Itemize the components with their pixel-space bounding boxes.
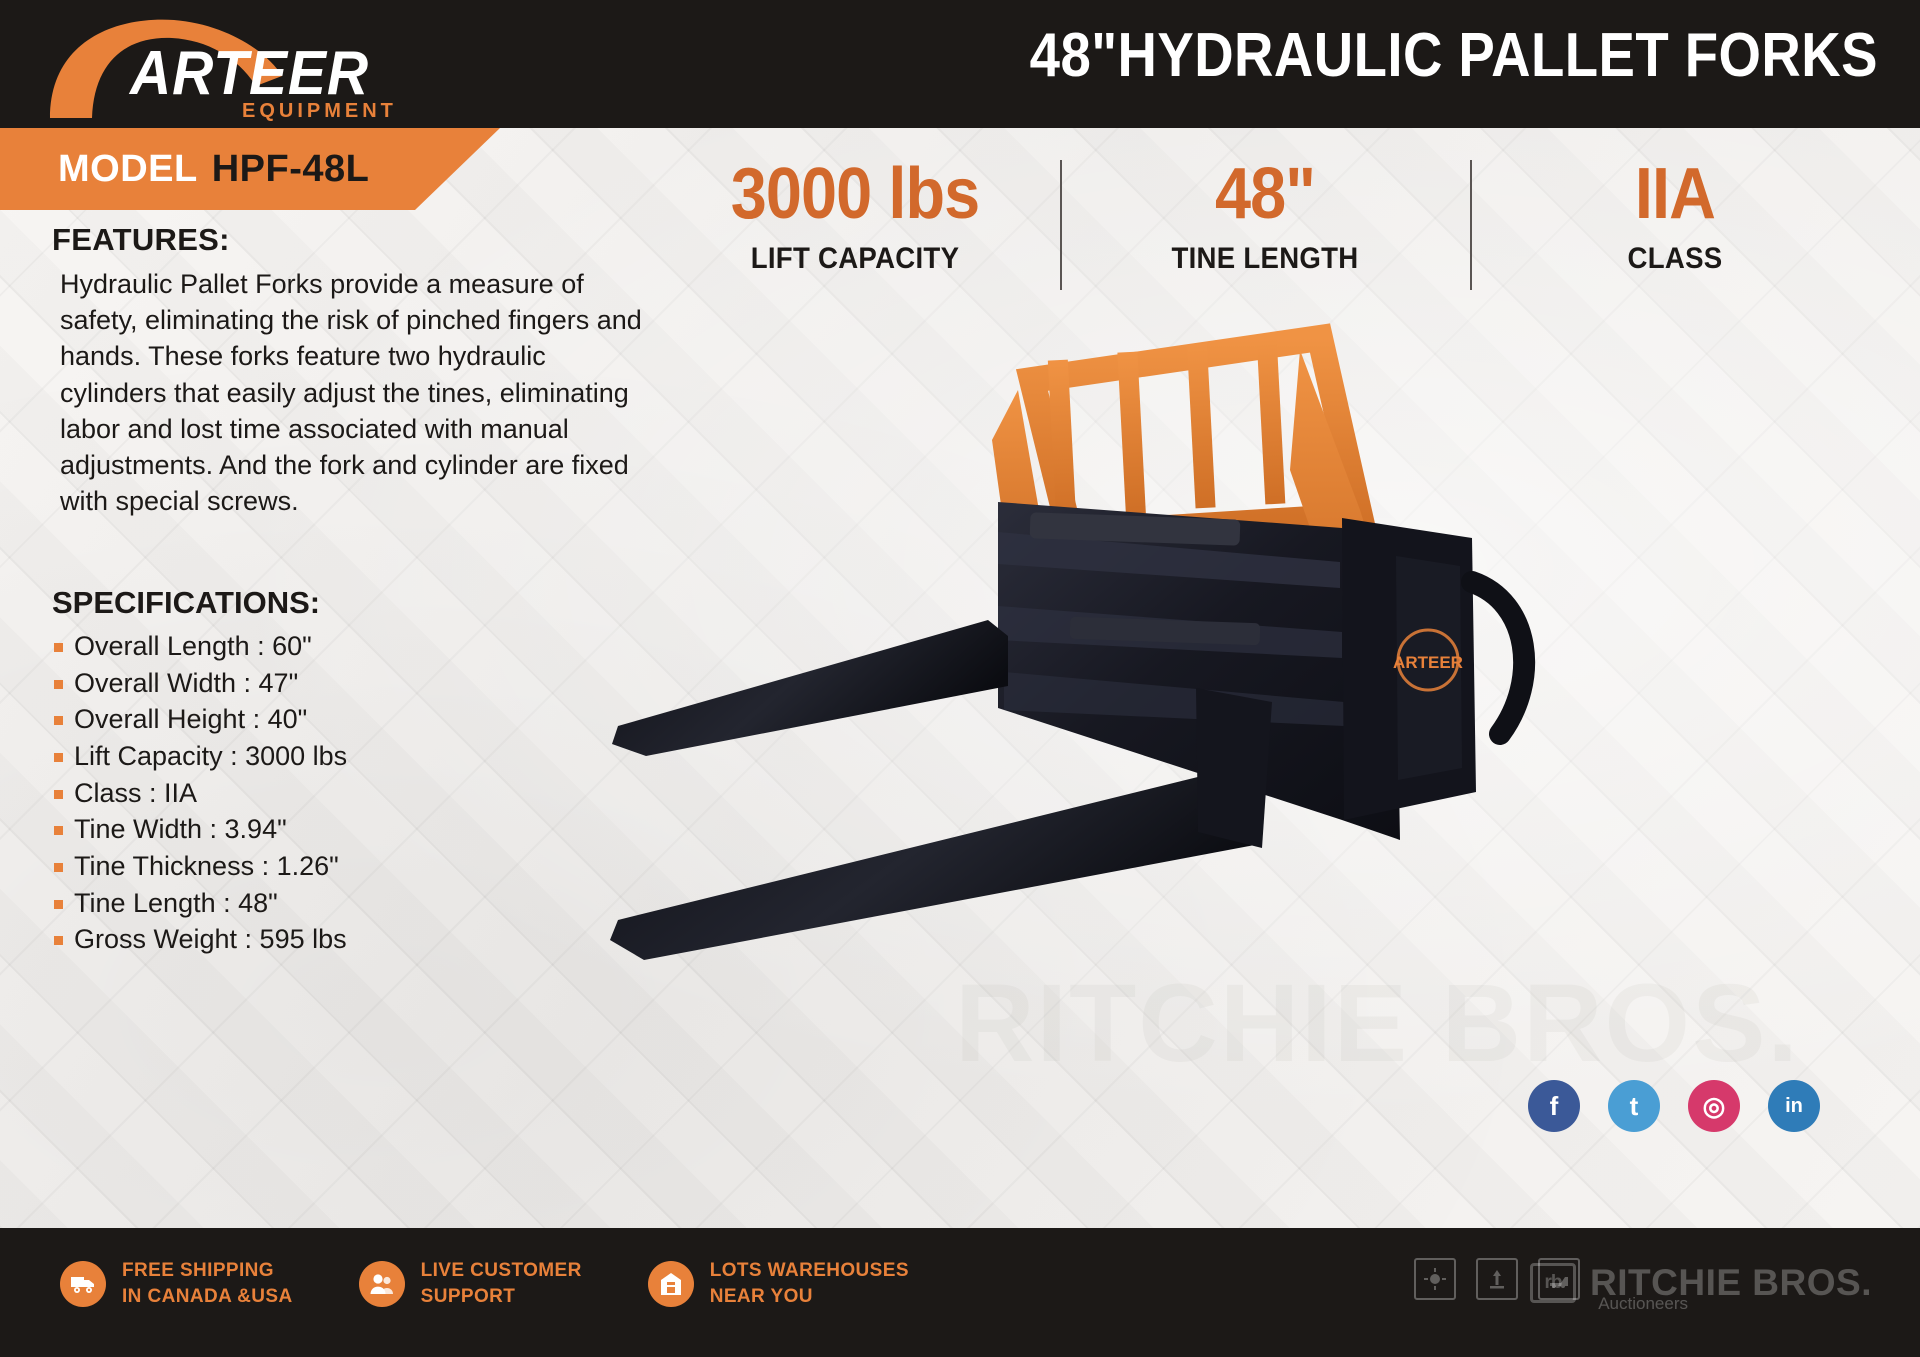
specifications-list: Overall Length : 60" Overall Width : 47"… xyxy=(52,629,662,958)
warehouse-icon xyxy=(648,1261,694,1307)
page-header: ARTEER EQUIPMENT 48"HYDRAULIC PALLET FOR… xyxy=(0,0,1920,128)
model-label: MODEL xyxy=(58,148,198,191)
spec-item: Gross Weight : 595 lbs xyxy=(52,922,662,958)
stat-label: CLASS xyxy=(1486,242,1863,276)
people-icon xyxy=(359,1261,405,1307)
stat-value: 48" xyxy=(1081,158,1450,230)
brand-logo: ARTEER EQUIPMENT xyxy=(42,8,372,120)
social-links[interactable]: f t ◎ in xyxy=(1528,1080,1820,1132)
spec-item: Overall Length : 60" xyxy=(52,629,662,665)
footer-item-line1: LIVE CUSTOMER xyxy=(421,1258,582,1284)
footer-item-text: LOTS WAREHOUSES NEAR YOU xyxy=(710,1258,909,1310)
spec-item: Tine Thickness : 1.26" xyxy=(52,849,662,885)
key-stats: 3000 lbs LIFT CAPACITY 48" TINE LENGTH I… xyxy=(650,158,1880,303)
sun-icon xyxy=(1414,1258,1456,1300)
svg-text:ARTEER: ARTEER xyxy=(1393,653,1463,672)
stat-class: IIA CLASS xyxy=(1470,158,1880,303)
spec-item: Tine Length : 48" xyxy=(52,886,662,922)
footer-item-text: LIVE CUSTOMER SUPPORT xyxy=(421,1258,582,1310)
brand-name: ARTEER xyxy=(130,38,369,109)
linkedin-icon[interactable]: in xyxy=(1768,1080,1820,1132)
rb-mark-icon: rb xyxy=(1530,1263,1576,1303)
specifications-heading: SPECIFICATIONS: xyxy=(52,585,662,621)
facebook-icon[interactable]: f xyxy=(1528,1080,1580,1132)
brand-tagline: EQUIPMENT xyxy=(242,100,397,123)
ritchie-bros-watermark: rb RITCHIE BROS. xyxy=(1530,1262,1872,1304)
left-column: FEATURES: Hydraulic Pallet Forks provide… xyxy=(52,222,662,959)
footer-item-line2: SUPPORT xyxy=(421,1284,582,1310)
stat-lift-capacity: 3000 lbs LIFT CAPACITY xyxy=(650,158,1060,303)
footer-item-text: FREE SHIPPING IN CANADA &USA xyxy=(122,1258,293,1310)
features-body: Hydraulic Pallet Forks provide a measure… xyxy=(60,266,645,519)
spec-item: Overall Width : 47" xyxy=(52,666,662,702)
stat-label: TINE LENGTH xyxy=(1076,242,1453,276)
footer-item-free-shipping: FREE SHIPPING IN CANADA &USA xyxy=(60,1258,293,1310)
features-heading: FEATURES: xyxy=(52,222,662,258)
spec-item: Lift Capacity : 3000 lbs xyxy=(52,739,662,775)
watermark-subtext: Auctioneers xyxy=(1598,1294,1688,1314)
product-image-pallet-forks: ARTEER xyxy=(600,320,1880,960)
model-value: HPF-48L xyxy=(212,148,370,191)
spec-item: Class : IIA xyxy=(52,776,662,812)
footer-item-line1: FREE SHIPPING xyxy=(122,1258,293,1284)
model-banner: MODEL HPF-48L xyxy=(0,128,500,210)
footer-item-line2: NEAR YOU xyxy=(710,1284,909,1310)
footer-item-line1: LOTS WAREHOUSES xyxy=(710,1258,909,1284)
stat-value: 3000 lbs xyxy=(671,158,1040,230)
instagram-icon[interactable]: ◎ xyxy=(1688,1080,1740,1132)
truck-icon xyxy=(60,1261,106,1307)
footer-item-line2: IN CANADA &USA xyxy=(122,1284,293,1310)
spec-item: Overall Height : 40" xyxy=(52,702,662,738)
stat-tine-length: 48" TINE LENGTH xyxy=(1060,158,1470,303)
height-arrow-icon xyxy=(1476,1258,1518,1300)
stat-label: LIFT CAPACITY xyxy=(666,242,1043,276)
twitter-icon[interactable]: t xyxy=(1608,1080,1660,1132)
product-spec-sheet: ARTEER EQUIPMENT 48"HYDRAULIC PALLET FOR… xyxy=(0,0,1920,1357)
page-footer: FREE SHIPPING IN CANADA &USA LIVE CUSTOM… xyxy=(0,1228,1920,1357)
page-title: 48"HYDRAULIC PALLET FORKS xyxy=(1030,20,1878,91)
stat-value: IIA xyxy=(1491,158,1860,230)
footer-item-warehouses: LOTS WAREHOUSES NEAR YOU xyxy=(648,1258,909,1310)
spec-item: Tine Width : 3.94" xyxy=(52,812,662,848)
footer-service-badges: FREE SHIPPING IN CANADA &USA LIVE CUSTOM… xyxy=(60,1258,909,1310)
footer-item-live-support: LIVE CUSTOMER SUPPORT xyxy=(359,1258,582,1310)
